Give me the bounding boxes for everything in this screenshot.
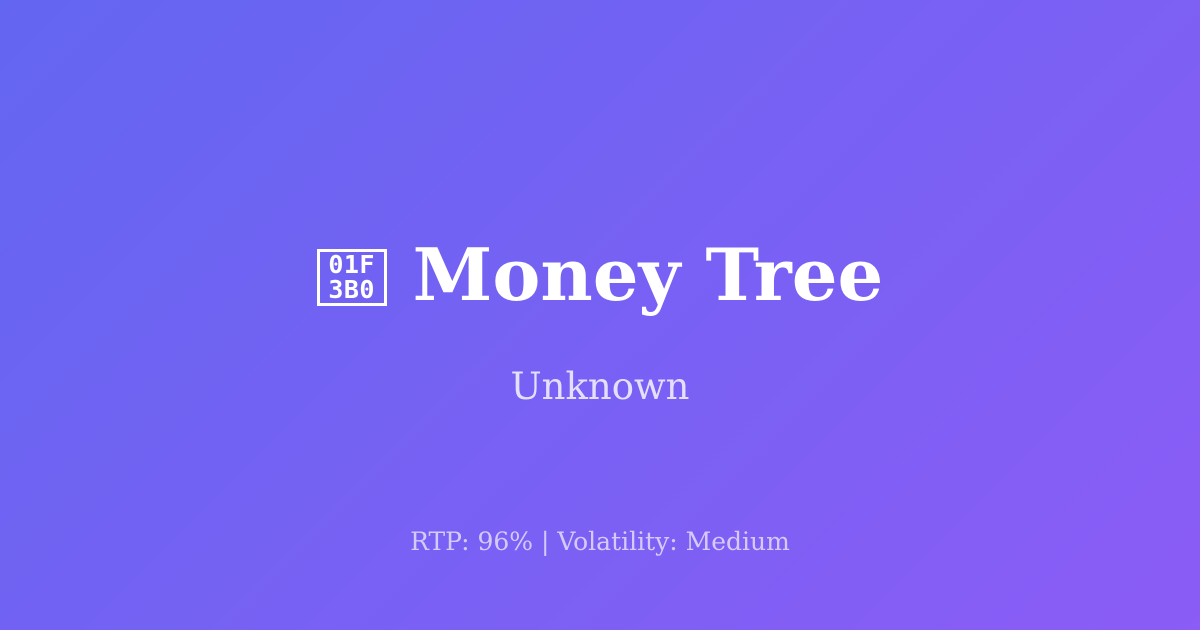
slot-machine-emoji: 01F 3B0 (317, 249, 387, 306)
emoji-codepoint-top: 01F (328, 252, 375, 277)
game-stats-line: RTP: 96% | Volatility: Medium (0, 526, 1200, 558)
og-share-card: 01F 3B0 Money Tree Unknown RTP: 96% | Vo… (0, 0, 1200, 630)
page-title: Money Tree (413, 232, 884, 318)
emoji-codepoint-bottom: 3B0 (328, 277, 375, 302)
title-row: 01F 3B0 Money Tree (0, 232, 1200, 318)
subtitle: Unknown (0, 363, 1200, 411)
